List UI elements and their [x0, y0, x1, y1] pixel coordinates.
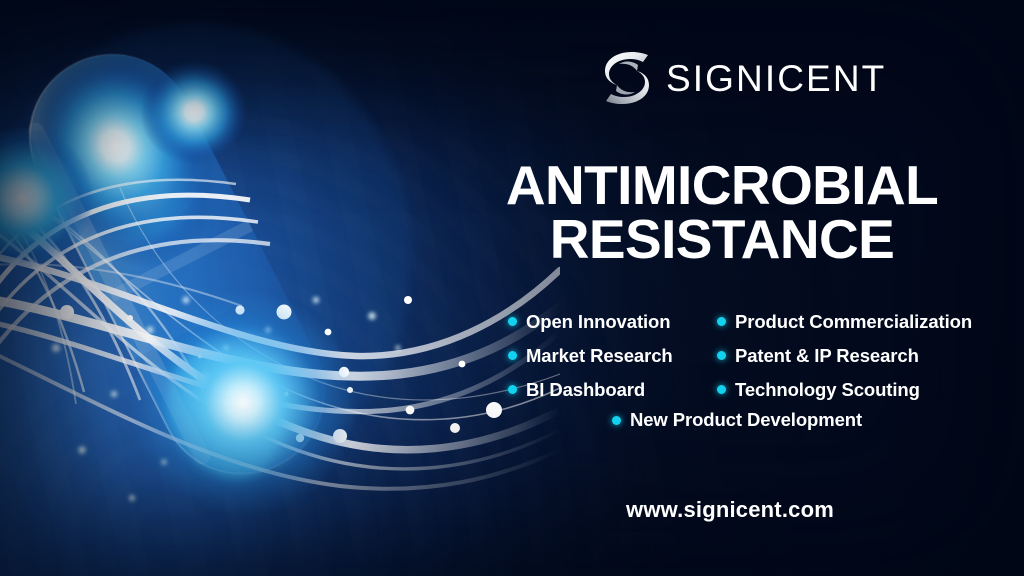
- bullet-dot-icon: [508, 317, 517, 326]
- signicent-s-mark-icon: [602, 50, 652, 106]
- list-item-label: Market Research: [526, 345, 673, 367]
- list-item[interactable]: Patent & IP Research: [717, 340, 972, 371]
- website-url[interactable]: www.signicent.com: [452, 497, 1008, 523]
- list-item[interactable]: New Product Development: [452, 409, 1008, 431]
- list-item[interactable]: Open Innovation: [508, 306, 713, 337]
- list-item-label: Patent & IP Research: [735, 345, 919, 367]
- page-title-line2: RESISTANCE: [452, 212, 992, 266]
- page-title-line1: ANTIMICROBIAL: [506, 154, 938, 216]
- list-item[interactable]: Technology Scouting: [717, 374, 972, 405]
- brand-name: SIGNICENT: [666, 60, 886, 97]
- bullet-dot-icon: [717, 351, 726, 360]
- list-item[interactable]: BI Dashboard: [508, 374, 713, 405]
- list-item[interactable]: Product Commercialization: [717, 306, 972, 337]
- list-item-label: Product Commercialization: [735, 311, 972, 333]
- list-item-label: Technology Scouting: [735, 379, 920, 401]
- bullet-dot-icon: [508, 351, 517, 360]
- services-list: Open Innovation Market Research BI Dashb…: [452, 306, 1008, 431]
- services-right-column: Product Commercialization Patent & IP Re…: [713, 306, 972, 405]
- poster-canvas: SIGNICENT ANTIMICROBIAL RESISTANCE Open …: [0, 0, 1024, 576]
- bullet-dot-icon: [717, 385, 726, 394]
- list-item[interactable]: Market Research: [508, 340, 713, 371]
- bullet-dot-icon: [508, 385, 517, 394]
- list-item-label: Open Innovation: [526, 311, 670, 333]
- bullet-dot-icon: [612, 416, 621, 425]
- list-item-label: New Product Development: [630, 409, 862, 431]
- bullet-dot-icon: [717, 317, 726, 326]
- brand-logo[interactable]: SIGNICENT: [602, 50, 886, 106]
- page-title: ANTIMICROBIAL RESISTANCE: [452, 158, 992, 267]
- services-left-column: Open Innovation Market Research BI Dashb…: [452, 306, 713, 405]
- list-item-label: BI Dashboard: [526, 379, 645, 401]
